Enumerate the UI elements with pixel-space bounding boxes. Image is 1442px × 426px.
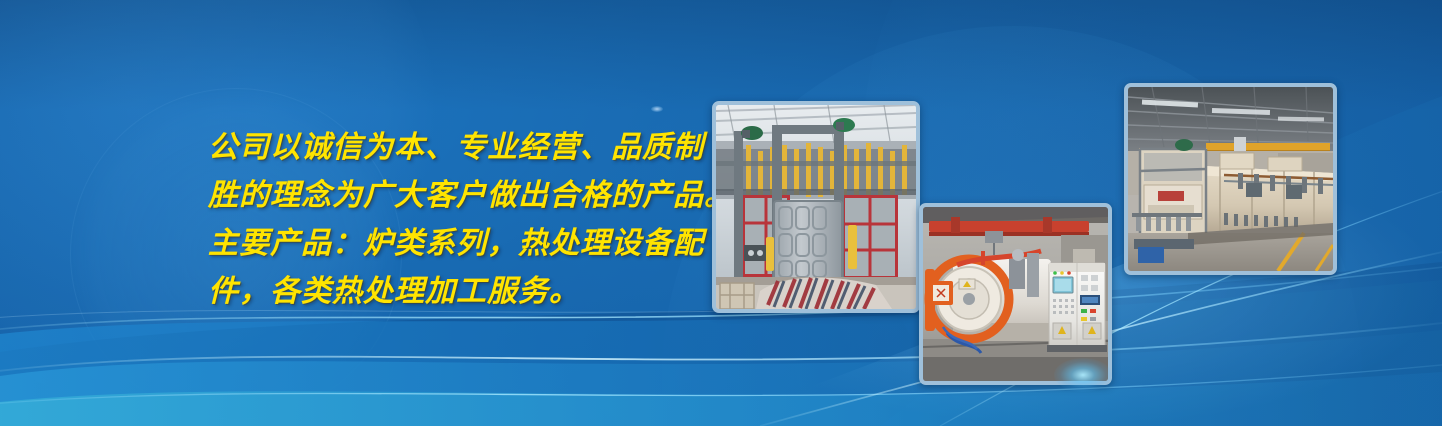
headline-line-4: 件，各类热处理加工服务。 xyxy=(208,268,728,316)
pit-type-furnace-photo[interactable] xyxy=(712,101,920,313)
continuous-furnace-line-photo[interactable] xyxy=(1124,83,1337,275)
headline-line-3: 主要产品：炉类系列，热处理设备配 xyxy=(208,220,728,268)
vacuum-furnace-photo[interactable] xyxy=(919,203,1112,385)
headline-copy: 公司以诚信为本、专业经营、品质制 胜的理念为广大客户做出合格的产品。 主要产品：… xyxy=(208,124,728,316)
headline-line-1: 公司以诚信为本、专业经营、品质制 xyxy=(208,124,728,172)
continuous-furnace-line-image xyxy=(1128,87,1333,271)
vacuum-furnace-image xyxy=(923,207,1108,381)
headline-line-2: 胜的理念为广大客户做出合格的产品。 xyxy=(208,172,728,220)
pit-type-furnace-image xyxy=(716,105,916,309)
company-intro-banner: 公司以诚信为本、专业经营、品质制 胜的理念为广大客户做出合格的产品。 主要产品：… xyxy=(0,0,1442,426)
sparkle-highlight xyxy=(651,106,663,112)
